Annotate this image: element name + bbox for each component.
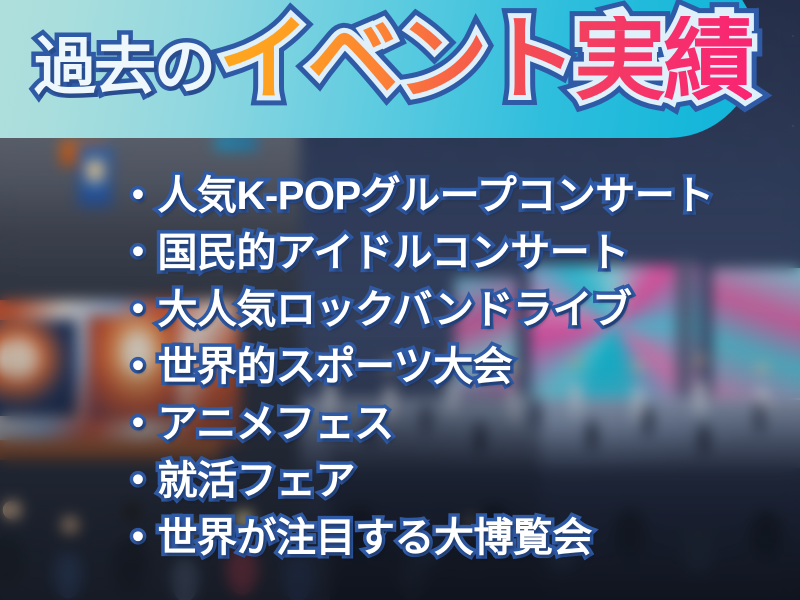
list-item: ・就活フェア <box>118 453 714 510</box>
title-highlight: イベント実績 イベント実績 イベント実績 <box>218 16 752 104</box>
list-item: ・人気K-POPグループコンサート <box>118 168 714 225</box>
page-title: 過去の イベント実績 イベント実績 イベント実績 <box>34 14 752 102</box>
list-item: ・世界的スポーツ大会 <box>118 339 714 396</box>
event-list: ・人気K-POPグループコンサート ・国民的アイドルコンサート ・大人気ロックバ… <box>118 168 714 567</box>
title-highlight-fill: イベント実績 <box>218 16 752 104</box>
list-item: ・大人気ロックバンドライブ <box>118 282 714 339</box>
title-prefix: 過去の <box>34 38 214 99</box>
list-item: ・世界が注目する大博覧会 <box>118 510 714 567</box>
slide-root: 過去の イベント実績 イベント実績 イベント実績 ・人気K-POPグループコンサ… <box>0 0 800 600</box>
list-item: ・アニメフェス <box>118 396 714 453</box>
list-item: ・国民的アイドルコンサート <box>118 225 714 282</box>
